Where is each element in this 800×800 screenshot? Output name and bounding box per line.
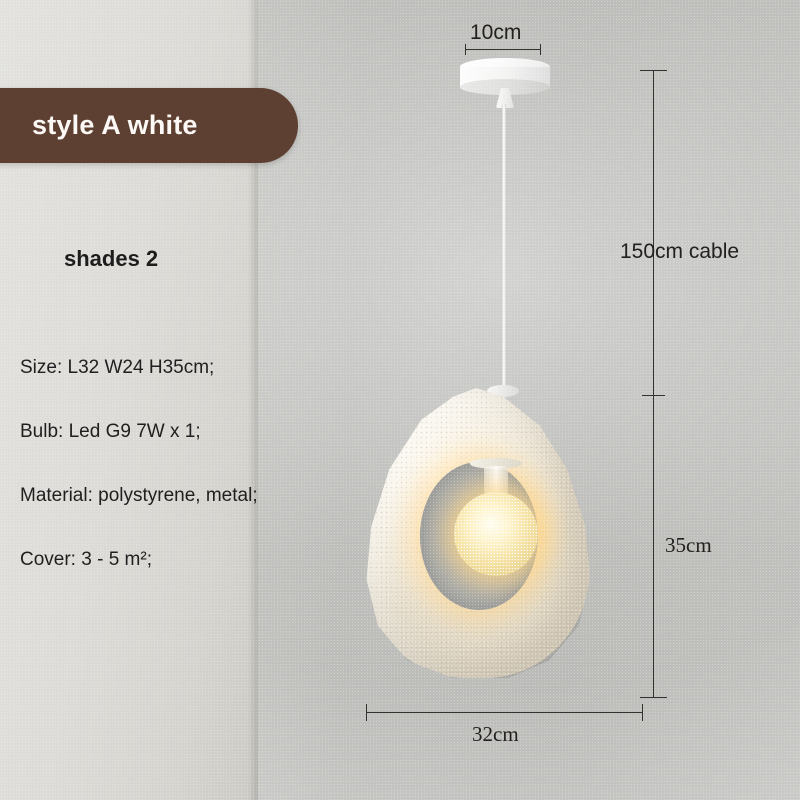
spec-line-size: Size: L32 W24 H35cm; [20, 358, 350, 377]
style-badge: style A white [0, 88, 298, 163]
height-dimension-line [653, 70, 654, 697]
spec-list: Size: L32 W24 H35cm; Bulb: Led G9 7W x 1… [20, 358, 350, 614]
canopy-dimension-tick-left [465, 44, 466, 55]
width-dimension-tick-right [642, 704, 643, 721]
spec-line-bulb: Bulb: Led G9 7W x 1; [20, 422, 350, 441]
height-dimension-tick-mid [642, 395, 665, 396]
spec-line-cover: Cover: 3 - 5 m²; [20, 550, 350, 569]
width-dimension-line [366, 712, 643, 713]
page-title: shades 2 [64, 246, 158, 272]
shade-height-label: 35cm [665, 533, 712, 558]
canopy-width-label: 10cm [470, 21, 521, 45]
cable-length-label: 150cm cable [620, 240, 739, 264]
canopy-dimension-line [465, 49, 541, 50]
shade-width-label: 32cm [472, 722, 519, 747]
height-dimension-tick-bottom [640, 697, 667, 698]
style-badge-label: style A white [0, 110, 198, 141]
canopy-dimension-tick-right [540, 44, 541, 55]
height-dimension-tick-top [640, 70, 667, 71]
width-dimension-tick-left [366, 704, 367, 721]
product-spec-image: style A white shades 2 Size: L32 W24 H35… [0, 0, 800, 800]
spec-line-material: Material: polystyrene, metal; [20, 486, 350, 505]
